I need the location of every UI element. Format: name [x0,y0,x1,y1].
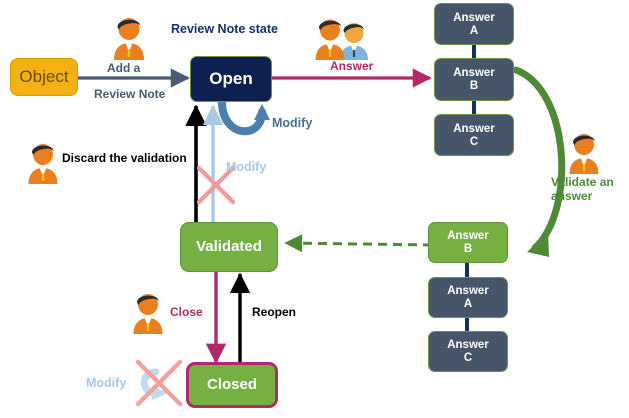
arrow-modify-closed-blocked [144,372,168,400]
node-closed[interactable]: Closed [186,362,278,408]
node-validated-label: Validated [196,239,262,256]
diagram-title: Review Note state [171,22,278,36]
answer-actors-icon [312,16,372,60]
label-modify-self-loop: Modify [272,116,312,130]
answer-box-a-top[interactable]: Answer A [434,3,514,45]
label-reopen: Reopen [252,306,296,320]
label-review-note: Review Note [94,88,165,102]
cross-out-modify-closed [138,362,180,404]
answer-box-c-bottom[interactable]: Answer C [428,331,508,372]
answer-word: Answer [453,123,495,136]
state-diagram-canvas: Object Open Validated Closed Answer A An… [0,0,629,418]
close-actor-icon [130,292,166,334]
answer-word: Answer [447,339,489,352]
label-validate-an-answer: Validate an answer [551,176,625,204]
discard-actor-icon [25,142,61,184]
label-answer: Answer [330,60,373,74]
answer-box-c-top[interactable]: Answer C [434,114,514,156]
answer-word: Answer [447,285,489,298]
answer-letter: C [470,136,478,149]
answer-box-b-top[interactable]: Answer B [434,58,514,101]
answer-letter: A [470,25,478,38]
node-object-label: Object [19,67,68,86]
answer-letter: B [464,243,472,256]
label-close: Close [170,306,203,320]
answer-word: Answer [447,230,489,243]
label-modify-blocked-closed: Modify [86,376,126,390]
label-add-a: Add a [107,62,140,76]
answer-word: Answer [453,12,495,25]
validate-actor-icon [566,132,602,174]
connectors-layer [0,0,629,418]
label-discard-the-validation: Discard the validation [62,152,187,166]
answer-letter: B [470,80,478,93]
answer-box-b-bottom-validated[interactable]: Answer B [428,222,508,263]
arrow-modify-self-loop [222,102,270,131]
node-object[interactable]: Object [10,58,78,96]
answer-box-a-bottom[interactable]: Answer A [428,277,508,318]
answer-letter: A [464,298,472,311]
arrow-validated-feedback [286,243,432,245]
add-note-actor-icon [110,16,148,60]
node-validated[interactable]: Validated [180,222,278,272]
node-open-label: Open [209,69,252,88]
node-closed-label: Closed [207,377,257,394]
node-open[interactable]: Open [190,56,272,102]
answer-word: Answer [453,67,495,80]
answer-letter: C [464,352,472,365]
label-modify-blocked-up: Modify [226,160,266,174]
arrow-validate-an-answer [516,70,562,257]
